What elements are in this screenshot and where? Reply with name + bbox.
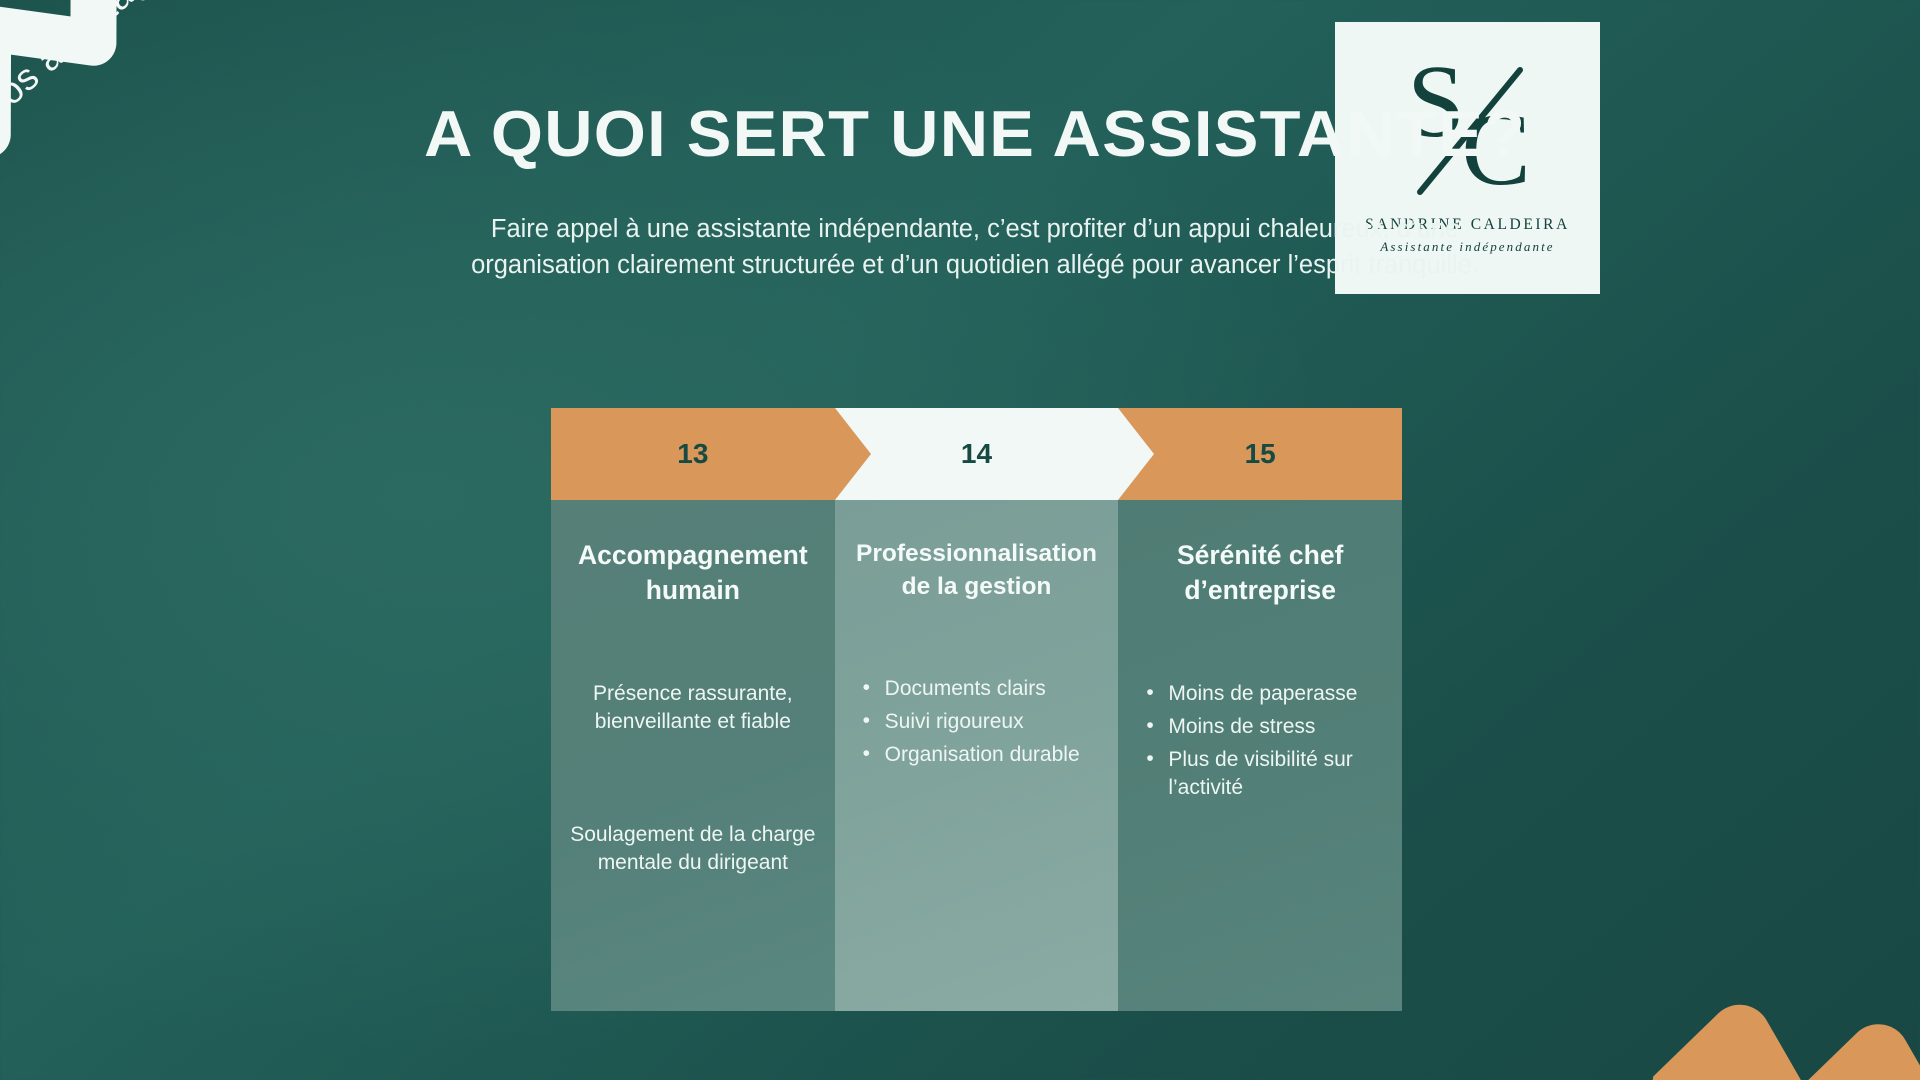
column-content: Moins de paperasse Moins de stress Plus … — [1134, 680, 1386, 801]
squiggle-decoration-bottom-right — [1647, 827, 1920, 1080]
column-serenite-chef-entreprise: Sérénité chef d’entreprise Moins de pape… — [1118, 500, 1402, 1011]
column-accompagnement-humain: Accompagnement humain Présence rassurant… — [551, 500, 835, 1011]
list-item: Documents clairs — [861, 675, 1103, 703]
column-number: 13 — [677, 438, 708, 470]
bullet-list: Moins de paperasse Moins de stress Plus … — [1134, 680, 1386, 801]
column-header-14: 14 — [835, 408, 1119, 500]
list-item: Plus de visibilité sur l’activité — [1144, 746, 1386, 801]
column-number: 15 — [1245, 438, 1276, 470]
list-item: Moins de paperasse — [1144, 680, 1386, 708]
column-number-headers: 13 14 15 — [551, 408, 1402, 500]
column-title-line1: Accompagnement — [578, 540, 808, 570]
column-title-line2: d’entreprise — [1184, 575, 1336, 605]
list-item: Suivi rigoureux — [861, 708, 1103, 736]
column-title: Sérénité chef d’entreprise — [1134, 538, 1386, 608]
column-header-13: 13 — [551, 408, 835, 500]
column-title-line1: Professionnalisation — [856, 540, 1097, 567]
page-title: A QUOI SERT UNE ASSISTANTE? — [424, 96, 1526, 171]
page-subtitle: Faire appel à une assistante indépendant… — [440, 211, 1510, 283]
column-bodies: Accompagnement humain Présence rassurant… — [551, 500, 1402, 1011]
three-column-module: 13 14 15 Accompagnement humain Présence … — [551, 408, 1402, 1011]
column-professionnalisation-gestion: Professionnalisation de la gestion Docum… — [835, 500, 1119, 1011]
column-title-line1: Sérénité chef — [1177, 540, 1343, 570]
list-item: Organisation durable — [861, 741, 1103, 769]
column-title-line2: humain — [646, 575, 740, 605]
column-header-15: 15 — [1118, 408, 1402, 500]
list-item: Moins de stress — [1144, 713, 1386, 741]
column-content: Documents clairs Suivi rigoureux Organis… — [851, 675, 1103, 768]
paragraph: Présence rassurante, bienveillante et fi… — [567, 680, 819, 736]
column-content: Présence rassurante, bienveillante et fi… — [567, 680, 819, 877]
column-title: Professionnalisation de la gestion — [851, 538, 1103, 603]
bullet-list: Documents clairs Suivi rigoureux Organis… — [851, 675, 1103, 768]
headline-block: A QUOI SERT UNE ASSISTANTE? Faire appel … — [0, 96, 1920, 283]
column-title-line2: de la gestion — [902, 573, 1052, 600]
column-title: Accompagnement humain — [567, 538, 819, 608]
paragraph: Soulagement de la charge mentale du diri… — [567, 821, 819, 877]
column-number: 14 — [961, 438, 992, 470]
